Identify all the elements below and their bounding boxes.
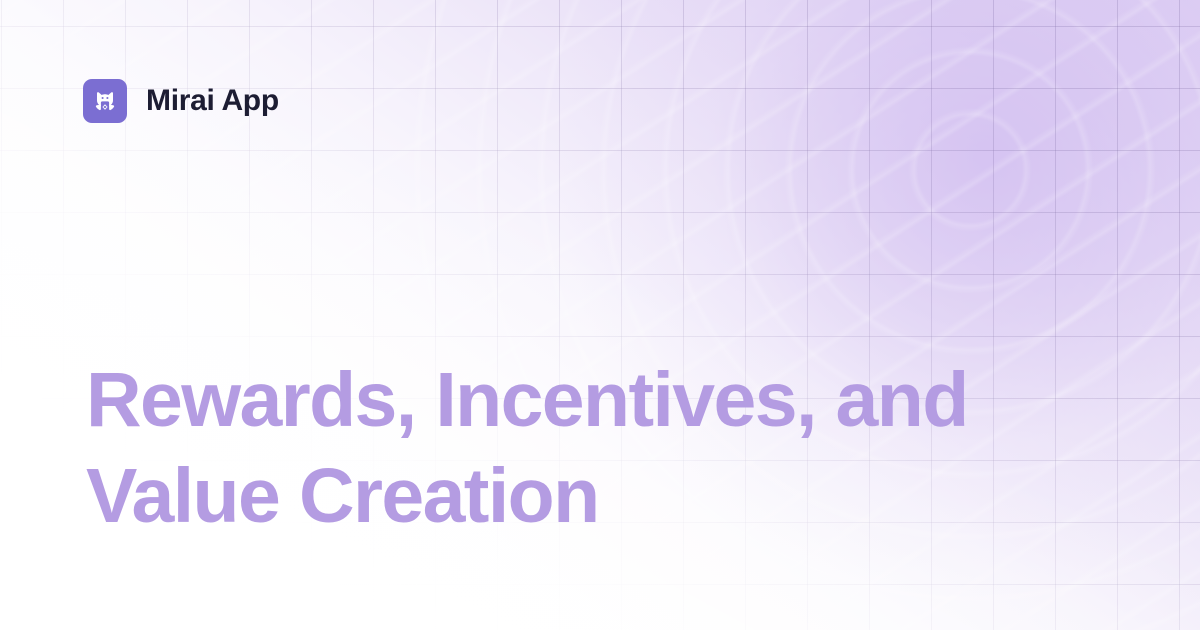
cat-mascot-icon — [91, 87, 119, 115]
og-card: Mirai App Rewards, Incentives, and Value… — [0, 0, 1200, 630]
page-title: Rewards, Incentives, and Value Creation — [86, 352, 1126, 544]
app-logo-badge — [83, 79, 127, 123]
brand-lockup: Mirai App — [83, 79, 279, 123]
app-name-label: Mirai App — [146, 84, 279, 118]
